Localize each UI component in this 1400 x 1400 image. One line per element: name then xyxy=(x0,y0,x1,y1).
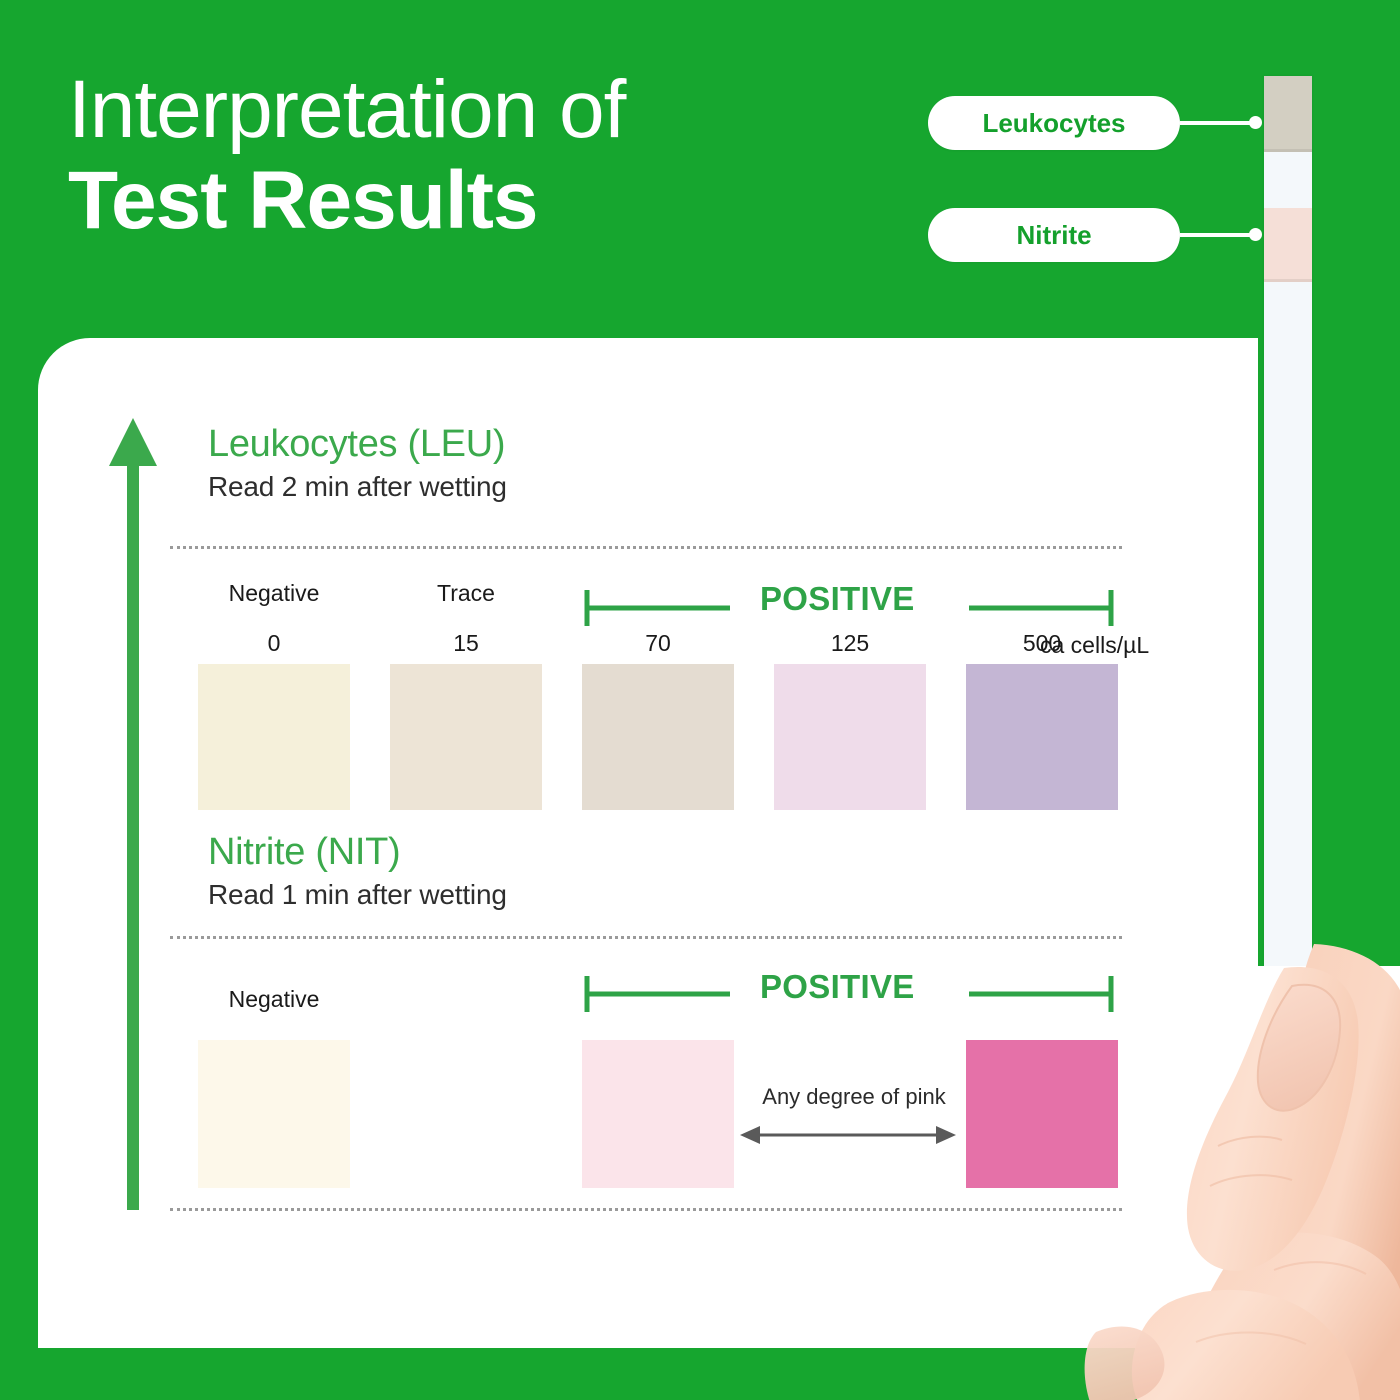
leukocytes-swatch-2 xyxy=(582,664,734,810)
test-strip xyxy=(1264,76,1312,966)
nitrite-swatch-0 xyxy=(198,1040,350,1188)
section-leukocytes-subtitle: Read 2 min after wetting xyxy=(208,471,1198,503)
test-strip-pad-leukocytes xyxy=(1264,76,1312,152)
leukocytes-category-2 xyxy=(582,580,734,610)
nitrite-column-negative: Negative xyxy=(198,986,350,1188)
callout-leader-line-leukocytes xyxy=(1180,121,1258,125)
leukocytes-value-4: 500 xyxy=(966,630,1118,664)
nitrite-category-1 xyxy=(582,986,734,1016)
leukocytes-column-125: 125 xyxy=(774,580,926,810)
leukocytes-category-4 xyxy=(966,580,1118,610)
hand-holding-strip-illustration xyxy=(1078,940,1400,1400)
section-leukocytes: Leukocytes (LEU) Read 2 min after wettin… xyxy=(208,424,1198,503)
leukocytes-column-negative: Negative 0 xyxy=(198,580,350,810)
page-title-line1: Interpretation of xyxy=(68,68,928,152)
callout-leader-line-nitrite xyxy=(1180,233,1258,237)
callout-leader-dot-leukocytes xyxy=(1249,116,1262,129)
callout-leader-dot-nitrite xyxy=(1249,228,1262,241)
infographic-root: Interpretation of Test Results Leukocyte… xyxy=(0,0,1400,1400)
divider-dotted-bottom xyxy=(170,1208,1122,1211)
leukocytes-swatch-0 xyxy=(198,664,350,810)
callout-pill-nitrite: Nitrite xyxy=(928,208,1180,262)
up-arrow-icon xyxy=(105,418,161,1210)
leukocytes-swatch-3 xyxy=(774,664,926,810)
section-nitrite: Nitrite (NIT) Read 1 min after wetting xyxy=(208,832,1198,911)
nitrite-annotation-label: Any degree of pink xyxy=(750,1084,958,1110)
leukocytes-category-3 xyxy=(774,580,926,610)
callout-pill-nitrite-label: Nitrite xyxy=(1016,220,1091,251)
section-nitrite-subtitle: Read 1 min after wetting xyxy=(208,879,1198,911)
leukocytes-value-0: 0 xyxy=(198,630,350,664)
nitrite-column-light-pink xyxy=(582,986,734,1188)
section-nitrite-title: Nitrite (NIT) xyxy=(208,832,1198,873)
leukocytes-category-0: Negative xyxy=(198,580,350,610)
divider-dotted-leukocytes-top xyxy=(170,546,1122,549)
leukocytes-value-1: 15 xyxy=(390,630,542,664)
leukocytes-swatch-4 xyxy=(966,664,1118,810)
leukocytes-value-3: 125 xyxy=(774,630,926,664)
test-strip-pad-nitrite xyxy=(1264,208,1312,282)
leukocytes-value-2: 70 xyxy=(582,630,734,664)
leukocytes-category-1: Trace xyxy=(390,580,542,610)
leukocytes-column-500: 500 xyxy=(966,580,1118,810)
page-title-line2: Test Results xyxy=(68,158,928,244)
section-leukocytes-title: Leukocytes (LEU) xyxy=(208,424,1198,465)
callout-pill-leukocytes-label: Leukocytes xyxy=(982,108,1125,139)
leukocytes-column-70: 70 xyxy=(582,580,734,810)
nitrite-positive-label: POSITIVE xyxy=(760,968,915,1006)
nitrite-category-0: Negative xyxy=(198,986,350,1016)
leukocytes-swatch-1 xyxy=(390,664,542,810)
page-title: Interpretation of Test Results xyxy=(68,68,928,244)
divider-dotted-nitrite-top xyxy=(170,936,1122,939)
leukocytes-column-trace: Trace 15 xyxy=(390,580,542,810)
nitrite-annotation-double-arrow-icon xyxy=(738,1120,958,1150)
nitrite-swatch-1 xyxy=(582,1040,734,1188)
callout-pill-leukocytes: Leukocytes xyxy=(928,96,1180,150)
